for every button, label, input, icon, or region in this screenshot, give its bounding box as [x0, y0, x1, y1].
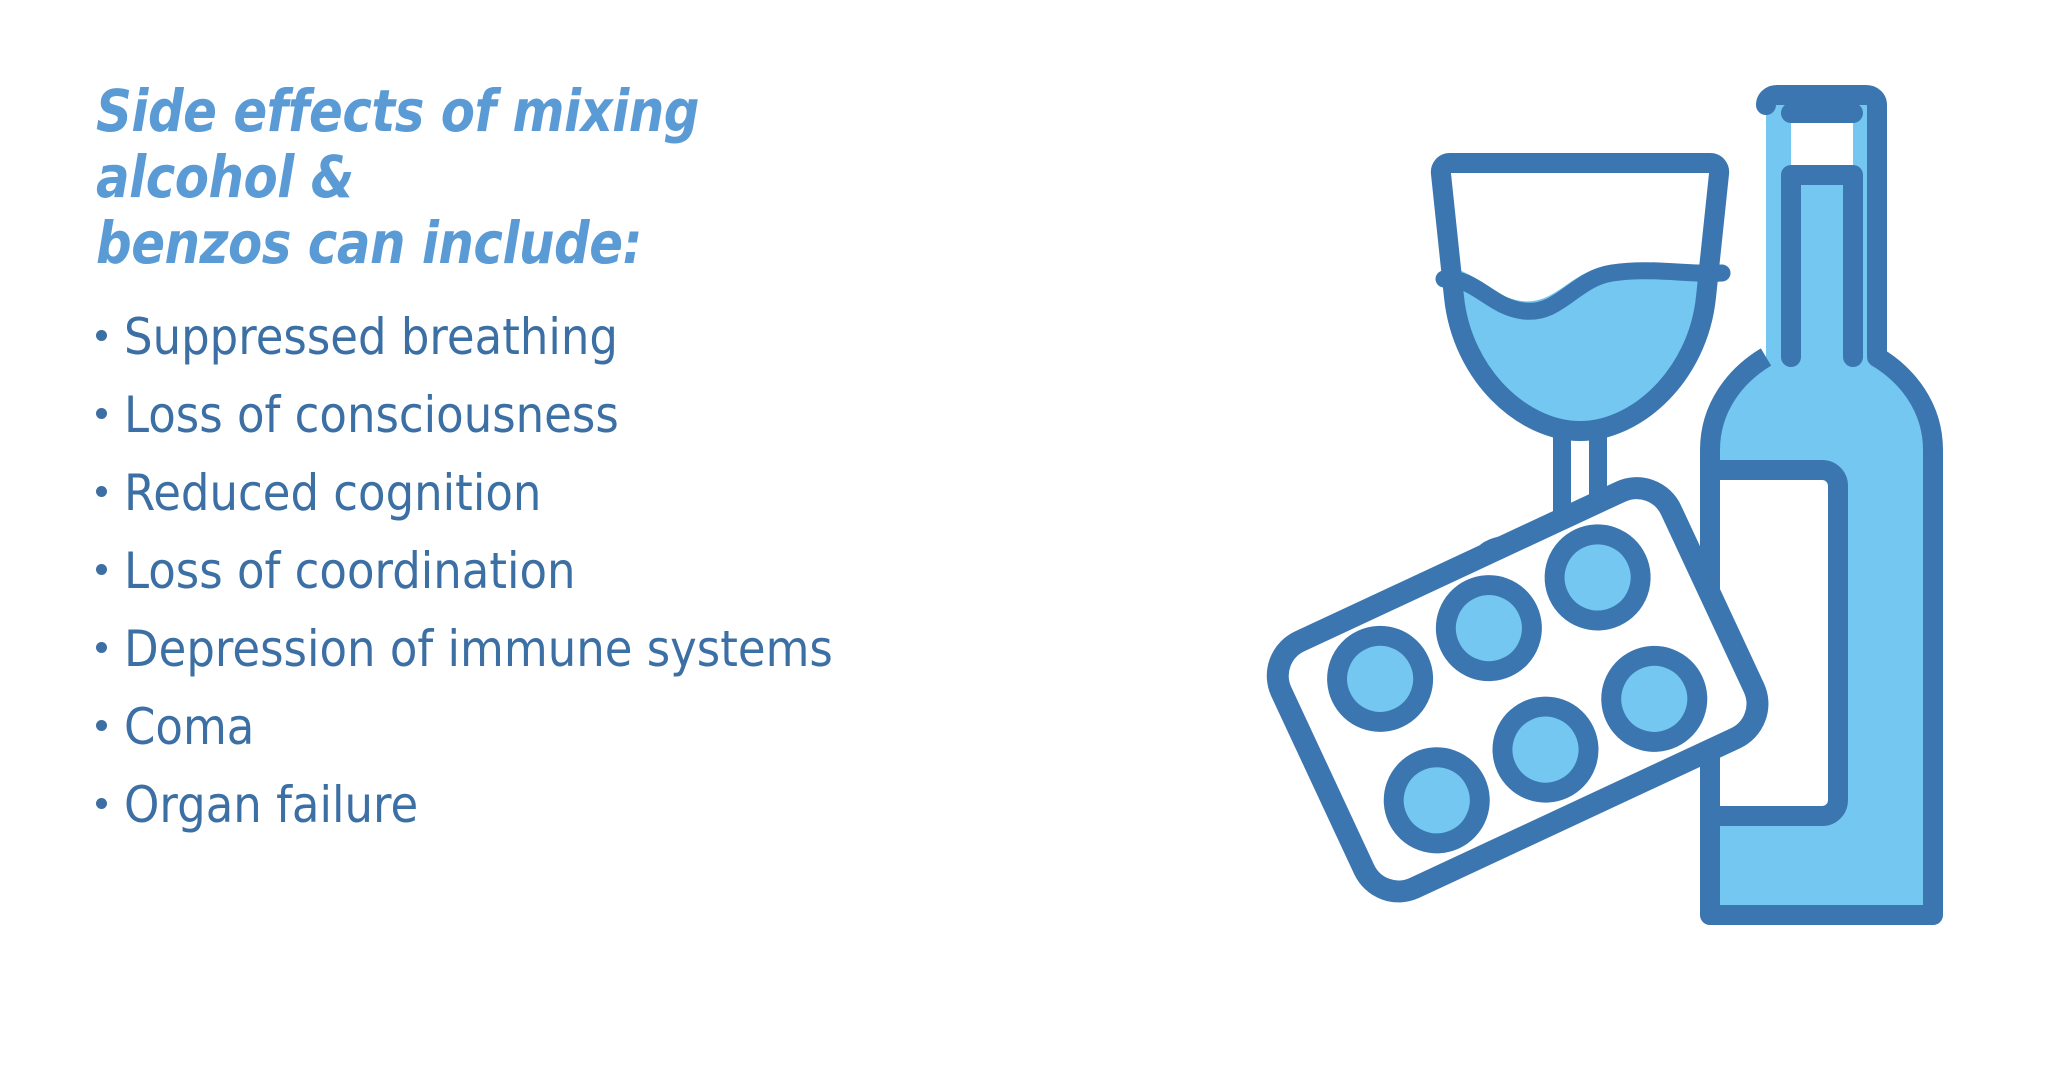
list-item-label: Depression of immune systems — [124, 610, 833, 688]
list-item-label: Reduced cognition — [124, 454, 541, 532]
bullet-dot-icon — [96, 330, 107, 341]
bullet-dot-icon — [96, 564, 107, 575]
list-item: Organ failure — [96, 766, 1176, 844]
list-item-label: Organ failure — [124, 766, 418, 844]
list-item-label: Coma — [124, 688, 254, 766]
infographic-canvas: Side effects of mixing alcohol & benzos … — [0, 0, 2048, 1075]
list-item: Coma — [96, 688, 1176, 766]
bullet-dot-icon — [96, 798, 107, 809]
list-item-label: Loss of consciousness — [124, 376, 619, 454]
bullet-dot-icon — [96, 408, 107, 419]
list-item-label: Loss of coordination — [124, 532, 576, 610]
wine-bottle-icon — [1710, 95, 1933, 915]
pill-blister-pack-icon — [1265, 476, 1770, 904]
list-item: Loss of coordination — [96, 532, 1176, 610]
bullet-dot-icon — [96, 642, 107, 653]
side-effects-list: Suppressed breathing Loss of consciousne… — [96, 298, 1176, 844]
bullet-dot-icon — [96, 486, 107, 497]
list-item: Depression of immune systems — [96, 610, 1176, 688]
page-title: Side effects of mixing alcohol & benzos … — [96, 78, 836, 276]
alcohol-and-pills-illustration — [1150, 45, 2048, 1035]
list-item: Suppressed breathing — [96, 298, 1176, 376]
list-item-label: Suppressed breathing — [124, 298, 618, 376]
text-column: Side effects of mixing alcohol & benzos … — [96, 78, 1176, 276]
bullet-dot-icon — [96, 720, 107, 731]
list-item: Loss of consciousness — [96, 376, 1176, 454]
list-item: Reduced cognition — [96, 454, 1176, 532]
